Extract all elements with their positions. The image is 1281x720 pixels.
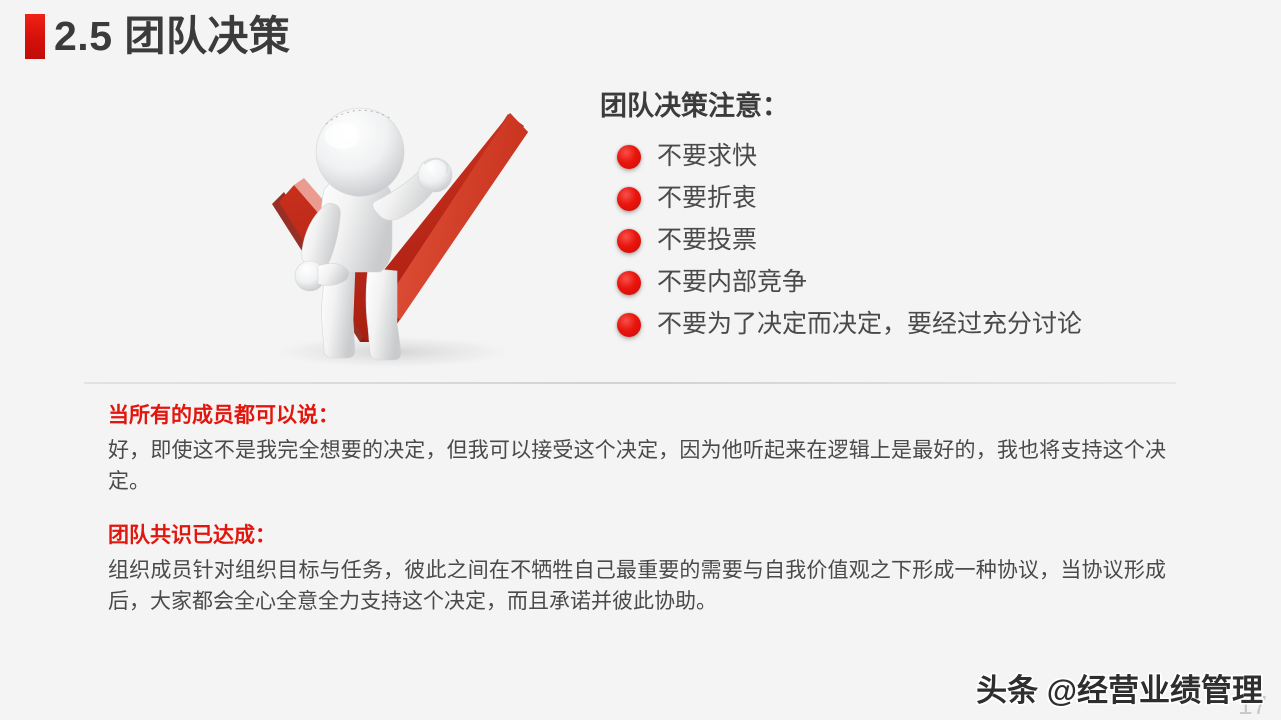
figure-with-checkmark-graphic bbox=[232, 80, 572, 380]
block-heading: 团队共识已达成： bbox=[108, 523, 1168, 549]
list-item: 不要折衷 bbox=[600, 178, 1200, 219]
slide-root: 2.5 团队决策 bbox=[0, 0, 1281, 720]
fist bbox=[418, 158, 452, 192]
bullet-list: 不要求快 不要折衷 不要投票 不要内部竞争 不要为了决定而决定，要经过充分讨论 bbox=[600, 136, 1200, 345]
title-label: 2.5 团队决策 bbox=[54, 16, 290, 57]
page-title: 2.5 团队决策 bbox=[25, 10, 290, 62]
red-dot-icon bbox=[617, 313, 641, 337]
section-divider bbox=[84, 382, 1176, 384]
list-item: 不要求快 bbox=[600, 136, 1200, 177]
title-accent-bar bbox=[25, 14, 45, 59]
panel-heading: 团队决策注意： bbox=[600, 90, 1200, 122]
block-heading: 当所有的成员都可以说： bbox=[108, 403, 1168, 429]
bullet-label: 不要投票 bbox=[657, 228, 757, 253]
bullet-label: 不要求快 bbox=[657, 144, 757, 169]
bullet-label: 不要为了决定而决定，要经过充分讨论 bbox=[657, 312, 1082, 337]
text-blocks: 当所有的成员都可以说： 好，即使这不是我完全想要的决定，但我可以接受这个决定，因… bbox=[108, 403, 1168, 617]
red-dot-icon bbox=[617, 271, 641, 295]
list-item: 不要内部竞争 bbox=[600, 262, 1200, 303]
text-block: 当所有的成员都可以说： 好，即使这不是我完全想要的决定，但我可以接受这个决定，因… bbox=[108, 403, 1168, 497]
figure-head bbox=[316, 108, 404, 196]
text-block: 团队共识已达成： 组织成员针对组织目标与任务，彼此之间在不牺牲自己最重要的需要与… bbox=[108, 523, 1168, 617]
red-dot-icon bbox=[617, 229, 641, 253]
block-body: 好，即使这不是我完全想要的决定，但我可以接受这个决定，因为他听起来在逻辑上是最好… bbox=[108, 436, 1166, 497]
list-item: 不要为了决定而决定，要经过充分讨论 bbox=[600, 304, 1200, 345]
watermark: 头条 @经营业绩管理 bbox=[976, 675, 1263, 706]
block-body: 组织成员针对组织目标与任务，彼此之间在不牺牲自己最重要的需要与自我价值观之下形成… bbox=[108, 556, 1166, 617]
red-dot-icon bbox=[617, 145, 641, 169]
hero-illustration bbox=[232, 80, 572, 380]
list-item: 不要投票 bbox=[600, 220, 1200, 261]
notes-panel: 团队决策注意： 不要求快 不要折衷 不要投票 不要内部竞争 不要为了决定而决定，… bbox=[600, 90, 1200, 346]
bullet-label: 不要内部竞争 bbox=[657, 270, 807, 295]
red-dot-icon bbox=[617, 187, 641, 211]
bullet-label: 不要折衷 bbox=[657, 186, 757, 211]
